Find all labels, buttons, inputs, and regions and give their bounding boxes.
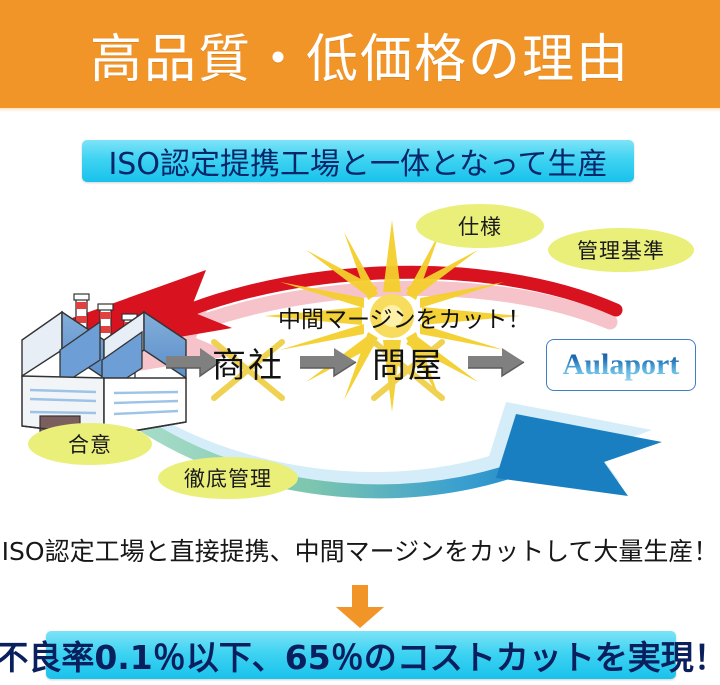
pill-standard: 管理基準 [548,228,694,272]
header-banner: 高品質・低価格の理由 [0,0,720,108]
subtitle-text: ISO認定提携工場と一体となって生産 [108,139,607,183]
aulaport-logo-box: Aulaport [546,339,696,391]
result-text: 不良率0.1％以下、65％のコストカットを実現！ [0,631,720,679]
gray-arrow-3 [468,348,524,376]
pill-spec: 仕様 [416,204,544,248]
result-banner: 不良率0.1％以下、65％のコストカットを実現！ [46,631,676,679]
chain-node-shosha: 商社 [212,338,284,387]
margin-cut-label: 中間マージンをカット！ [278,300,531,334]
pill-spec-label: 仕様 [458,211,502,241]
pill-control-label: 徹底管理 [184,463,272,493]
orange-down-arrow [330,585,390,634]
banner-fade-divider [0,104,720,112]
page-title: 高品質・低価格の理由 [90,17,630,92]
chain-node-tonya: 問屋 [372,338,444,387]
poster-root: 高品質・低価格の理由 ISO認定提携工場と一体となって生産 [0,0,720,685]
pill-agreement: 合意 [28,423,152,465]
pill-standard-label: 管理基準 [577,235,665,265]
pill-agreement-label: 合意 [68,429,112,459]
aulaport-logo-text: Aulaport [547,340,695,390]
summary-caption: ISO認定工場と直接提携、中間マージンをカットして大量生産！ [0,532,720,568]
subtitle-banner: ISO認定提携工場と一体となって生産 [82,140,634,182]
pill-control: 徹底管理 [158,457,298,499]
